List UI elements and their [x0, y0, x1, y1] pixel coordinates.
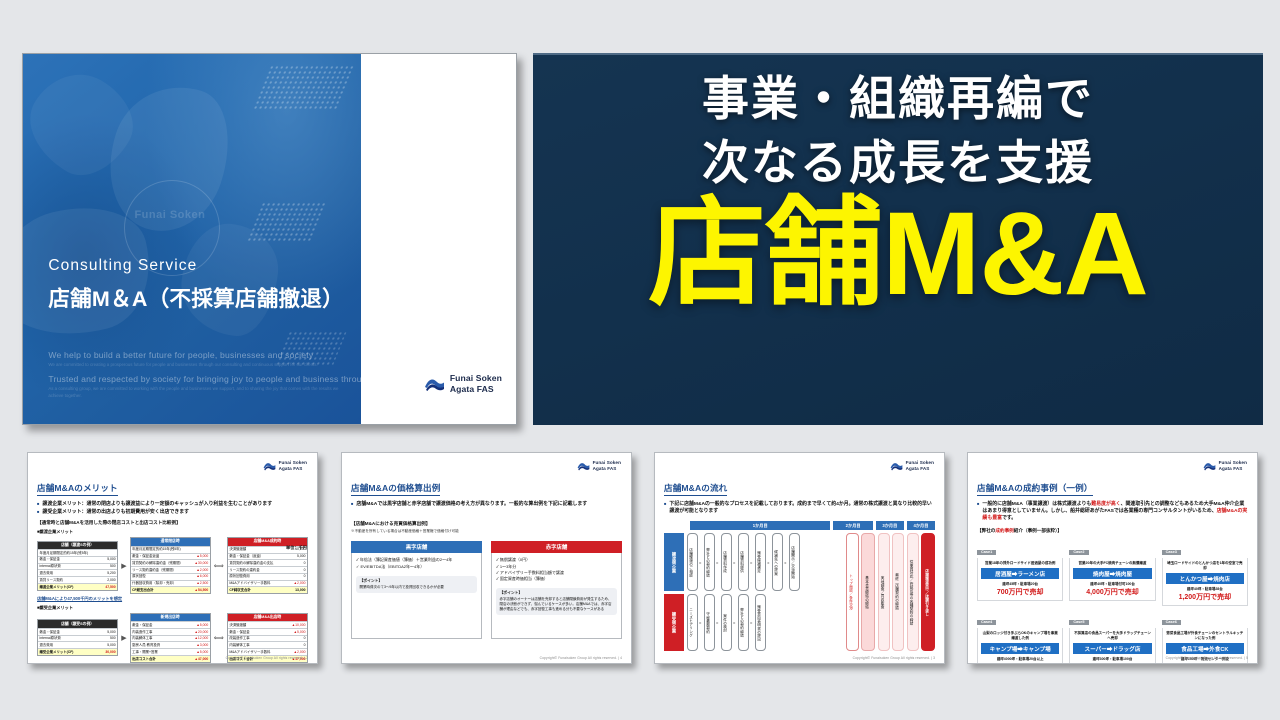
arrow-left-right-icon: ⟺	[214, 562, 224, 570]
case-spec: 建坪40坪・駐車場付可100台	[1073, 582, 1151, 587]
check-item: ✓ 固定資産時価相当（簿価）	[496, 576, 617, 582]
hero-headline-highlight: 店舗M&A	[648, 195, 1148, 313]
section-label-transferee: ■譲受企業メリット	[37, 605, 308, 611]
table-cell-value: ▲2,000	[280, 649, 307, 655]
case-body: 埼玉ロードサイドのとんかつ店を1年の空室で売却 とんかつ屋➡焼肉店 建坪40坪・…	[1162, 558, 1248, 606]
bullet-item: ■ 店舗M&Aでは黒字店舗と赤字店舗で譲渡価格の考え方が異なります。一般的な算出…	[351, 501, 622, 508]
case-tag: Case4	[977, 620, 996, 626]
subheading-part: 【弊社の	[977, 528, 995, 533]
case-price: 700万円で売却	[981, 587, 1059, 597]
table-cell-value: ▲5,000	[280, 629, 307, 635]
case-description: 埼玉ロードサイドのとんかつ店を1年の空室で売却	[1166, 561, 1244, 571]
flow-step-due-diligence: 実地調査／買収監査	[878, 533, 890, 651]
month-label: 3か月目	[876, 521, 904, 530]
table-cell-value: 5,000	[280, 554, 307, 560]
point-box-body: 赤字店舗のオーナーは店舗を売却すると店舗閉鎖費用が発生するため、閉店の決断ができ…	[500, 597, 614, 612]
table-note: 年度月足期間定的約15年(残5年)	[38, 550, 117, 556]
slide-bullet-list: ■ 一般的に店舗M&A（事業譲渡）は株式譲渡よりも難易度が高く、関連取引先との調…	[977, 501, 1248, 522]
table-cell-label: 退去費用	[38, 642, 90, 648]
brand-logo-line2: Agata FAS	[450, 384, 502, 395]
table-cell-value: 500	[90, 564, 117, 570]
arrow-right-icon: ▶	[121, 634, 126, 642]
case-body: 山梨のロッジ付き手ぶらOKのキャンプ場を事業譲渡した例 キャンプ場➡キャンプ場 …	[977, 628, 1063, 664]
slide-title: 店舗M&Aの流れ	[664, 482, 727, 496]
pricing-box-lossmaking: 赤字店舗 ✓ 無償譲渡（0円） ✓ 1～3年分 ✓ アドバイザリー手数料相当額で…	[491, 541, 622, 639]
bullet-square-icon: ■	[664, 501, 666, 515]
copyright-text: Copyright© Funaisoken Group All rights r…	[1166, 656, 1248, 660]
flow-lane-transferor: 店舗譲渡のご相談 ▸ 弊社との契約締結 ▸ 店舗資料作成 ▸ 店舗資料提供 ▸ …	[687, 533, 844, 591]
table-cell-value: ▲30,000	[183, 560, 210, 566]
title-slide-eyebrow: Consulting Service	[48, 257, 344, 275]
copyright-label: Copyright© Funaisoken Group All rights r…	[226, 656, 303, 660]
table-cell-value: 5,000	[90, 629, 117, 635]
title-slide-title: 店舗M＆A（不採算店舗撤退）	[48, 282, 344, 313]
table-cell-label: 賃貸契約の解除違約金の支払	[228, 560, 280, 566]
table-cell-label: リース契約違約金（残期間）	[131, 567, 183, 573]
table-cell-label: 厨房人員 教育投資	[131, 642, 183, 648]
flow-step: 店舗譲渡のご相談	[687, 533, 698, 591]
case-transition-bar: 焼肉屋➡焼肉屋	[1073, 568, 1151, 579]
flow-connector-icon: ▸	[717, 594, 719, 652]
table-total-value: 47,500	[90, 584, 117, 590]
table-cell-label: 敷金・保証金	[228, 629, 280, 635]
check-item-text: 無償譲渡（0円）	[500, 557, 530, 562]
box-header: 赤字店舗	[491, 541, 622, 553]
title-slide-thumbnail[interactable]: Funai Soken Consulting Service 店舗M＆A（不採算…	[22, 53, 517, 425]
funai-soken-wave-icon	[890, 461, 903, 471]
table-cell-label: M&Aアドバイザリー手数料	[228, 649, 280, 655]
funai-soken-wave-icon	[1203, 461, 1216, 471]
english-tagline-1-sub: We are committed to creating a prosperou…	[48, 362, 347, 369]
brand-logo: Funai Soken Agata FAS	[424, 373, 502, 394]
case-price: 7,000万円で売却	[981, 662, 1059, 664]
check-item-text: 1～3年分	[500, 564, 516, 569]
copyright-text: Copyright© Funaisoken Group All rights r…	[853, 656, 935, 660]
month-label: 4か月目	[907, 521, 935, 530]
check-item-text: EV/EBITDA法（EBITDA2年～4年）	[360, 564, 424, 569]
table-cell-label: 退去費用	[38, 570, 90, 576]
check-item-text: 年倍法（簿記資産価値（簿価）＋営業利益の2～4年	[360, 557, 452, 562]
flow-connector-icon: ▸	[717, 533, 719, 591]
title-slide-white-panel: Funai Soken Agata FAS	[361, 54, 516, 424]
table-header: 店舗M&A出店時	[228, 614, 307, 622]
bullet-item: ■ 譲受企業メリット：通常の出店よりも初期費用が安く出店できます	[37, 509, 308, 516]
table-cell-value: 5,000	[90, 557, 117, 563]
timeline-month-header: 1か月目 2か月目 3か月目 4か月目	[690, 521, 935, 530]
table-cell-value: 5,000	[90, 642, 117, 648]
table-cell-label: 敷金・保証金	[38, 629, 90, 635]
flow-step: 案件の検討	[721, 594, 732, 652]
box-body: ✓ 無償譲渡（0円） ✓ 1～3年分 ✓ アドバイザリー手数料相当額で譲渡 ✓ …	[491, 553, 622, 639]
table-note: 年度月足期間定的約15年(残5年)	[131, 547, 210, 553]
table-total-label: 譲受企業メリット(CF)	[38, 649, 90, 655]
table-cell-value: 0	[280, 567, 307, 573]
page-number: 3	[933, 656, 935, 660]
bullet-text: 譲受企業メリット：通常の出店よりも初期費用が安く出店できます	[42, 509, 189, 516]
case-spec: 建坪40坪・駐車場28台	[1166, 587, 1244, 592]
flow-step-handover: 店舗譲渡実行／店舗引き渡し	[921, 533, 935, 651]
case-card: Case5 不採算店の食品スーパーを大手ドラッグチェーンへ売却 スーパー➡ドラッ…	[1069, 610, 1155, 664]
funai-soken-wave-icon	[577, 461, 590, 471]
slide-subheading: 【店舗M&Aにおける売買価格算出例】	[351, 521, 622, 527]
flow-lanes: 店舗譲渡のご相談 ▸ 弊社との契約締結 ▸ 店舗資料作成 ▸ 店舗資料提供 ▸ …	[687, 533, 844, 651]
bullet-item: ■ 下記に店舗M&Aの一般的なプロセスを記載しております。成約まで早くて約4か月…	[664, 501, 935, 515]
case-transition-bar: 居酒屋➡ラーメン店	[981, 568, 1059, 579]
slide-subheading: 【弊社の成約事例紹介（事例一部抜粋）】	[977, 528, 1248, 534]
table-total-value: 13,000	[280, 587, 307, 593]
point-box-body: 開業時費次のて3～5年以内で投資回収できるかが必要	[360, 585, 474, 590]
case-tag: Case1	[977, 550, 996, 556]
point-box: 【ポイント】 赤字店舗のオーナーは店舗を売却すると店舗閉鎖費用が発生するため、閉…	[496, 588, 617, 615]
page-number: 4	[620, 656, 622, 660]
table-cell-value: 5,200	[90, 570, 117, 576]
brand-logo-text: Funai Soken Agata FAS	[450, 373, 502, 394]
flow-step-employee-licensing: 従業員対応／許認可等の各種契約の締結	[907, 533, 919, 651]
copyright-text: Copyright© Funaisoken Group All rights r…	[540, 656, 622, 660]
table-total-label: CF総支出合計	[131, 587, 183, 593]
table-cell-label: 決済譲渡額	[228, 547, 280, 553]
case-spec: 建坪300坪・駐車場100台	[1073, 657, 1151, 662]
case-card: Case3 埼玉ロードサイドのとんかつ店を1年の空室で売却 とんかつ屋➡焼肉店 …	[1162, 540, 1248, 606]
case-tag: Case3	[1162, 550, 1181, 556]
slide-title: 店舗M&Aのメリット	[37, 482, 118, 496]
case-card: Case2 営業20年の大手FC焼肉チェーンの無償譲渡 焼肉屋➡焼肉屋 建坪40…	[1069, 540, 1155, 606]
bullet-text-part: 一般的に店舗M&A（事業譲渡）は株式譲渡よりも	[982, 502, 1091, 507]
table-cell-label: 賃貸リース契約	[38, 577, 90, 583]
check-item-text: アドバイザリー手数料相当額で譲渡	[500, 570, 564, 575]
pricing-box-group: 黒字店舗 ✓ 年倍法（簿記資産価値（簿価）＋営業利益の2～4年 ✓ EV/EBI…	[351, 541, 622, 639]
flow-step: 店舗資料提供	[738, 533, 749, 591]
slide-thumbnail-pricing[interactable]: Funai Soken Agata FAS 店舗M&Aの価格算出例 ■ 店舗M&…	[341, 452, 632, 664]
brand-logo-text: Funai Soken Agata FAS	[279, 460, 307, 471]
slide-bullet-list: ■ 店舗M&Aでは黒字店舗と赤字店舗で譲渡価格の考え方が異なります。一般的な算出…	[351, 501, 622, 508]
comparison-row-transferor: 店舗（譲渡Sの例） 年度月足期間定的約15年(残5年) 敷金・保証金5,000 …	[37, 537, 308, 594]
slide-title: 店舗M&Aの成約事例（一例）	[977, 482, 1093, 496]
flow-connector-icon: ▸	[768, 533, 770, 591]
slide-bullet-list: ■ 譲渡企業メリット：通常の閉店よりも譲渡益により一定額のキャッシュが入り利益を…	[37, 501, 308, 516]
bullet-text: 譲渡企業メリット：通常の閉店よりも譲渡益により一定額のキャッシュが入り利益を生む…	[42, 501, 272, 508]
bullet-square-icon: ■	[977, 501, 979, 522]
table-cell-value: 0	[280, 642, 307, 648]
case-price: 5,000万円で売却	[1166, 662, 1244, 664]
case-description: 不採算店の食品スーパーを大手ドラッグチェーンへ売却	[1073, 631, 1151, 641]
table-cell-label: 敷金・保証金	[131, 622, 183, 628]
flow-step: 守秘義務契約	[704, 594, 715, 652]
subheading-highlight: 成約事例	[995, 528, 1013, 533]
slide-title: 店舗M&Aの価格算出例	[351, 482, 440, 496]
flow-lane-labels: 譲渡側企業 譲受側企業	[664, 533, 684, 651]
table-cell-label: internal原状費	[38, 564, 90, 570]
brand-logo: Funai Soken Agata FAS	[1203, 460, 1247, 471]
table-header: 店舗（譲渡Sの例）	[38, 542, 117, 550]
english-tagline-2-sub: As a consulting group, we are committed …	[48, 386, 347, 399]
brand-logo-line2: Agata FAS	[593, 466, 621, 472]
title-slide-blue-panel: Funai Soken Consulting Service 店舗M＆A（不採算…	[23, 54, 361, 424]
table-total-label: 出店コスト合計	[131, 656, 183, 662]
bullet-text-part: です。	[1002, 516, 1016, 521]
table-cell-label: 改装造作工事	[228, 636, 280, 642]
case-price: 3,000万円で売却	[1073, 662, 1151, 664]
flow-step: 候補先への提案	[772, 533, 783, 591]
case-tag: Case5	[1069, 620, 1088, 626]
table-cell-label: 敷金・保証金	[38, 557, 90, 563]
slide-thumbnail-process-flow[interactable]: Funai Soken Agata FAS 店舗M&Aの流れ ■ 下記に店舗M&…	[654, 452, 945, 664]
flow-step-basic-agreement: 基本合意締結の締結	[861, 533, 875, 651]
flow-step-final-contract: 最終（店舗契約の締結）	[892, 533, 904, 651]
table-cell-label: 決済譲渡額	[228, 622, 280, 628]
brand-logo-line1: Funai Soken	[450, 373, 502, 384]
lane-label-transferor: 譲渡側企業	[664, 533, 684, 591]
table-store-transferee: 店舗（譲受Sの例） 敷金・保証金5,000 internal原状費500 退去費…	[37, 619, 118, 656]
case-price: 1,200万円で売却	[1166, 592, 1244, 602]
hero-headline-line-1: 事業・組織再編で	[702, 77, 1094, 125]
brand-logo: Funai Soken Agata FAS	[577, 460, 621, 471]
table-cell-label: 原状回復	[131, 574, 183, 580]
table-store-transferor: 店舗（譲渡Sの例） 年度月足期間定的約15年(残5年) 敷金・保証金5,000 …	[37, 541, 118, 591]
flow-step: 店舗資料作成	[721, 533, 732, 591]
table-cell-value: ▲20,000	[183, 629, 210, 635]
box-body: ✓ 年倍法（簿記資産価値（簿価）＋営業利益の2～4年 ✓ EV/EBITDA法（…	[351, 553, 482, 639]
flow-connector-icon: ▸	[700, 533, 702, 591]
brand-logo-line1: Funai Soken	[1219, 460, 1247, 466]
case-transition-bar: キャンプ場➡キャンプ場	[981, 643, 1059, 654]
check-item-text: 固定資産時価相当（簿価）	[500, 576, 548, 581]
table-cell-value: ▲10,000	[280, 622, 307, 628]
copyright-label: Copyright© Funaisoken Group All rights r…	[1166, 656, 1243, 660]
table-total-value: ▲54,500	[183, 587, 210, 593]
table-cell-value: 0	[280, 560, 307, 566]
case-description: 山梨のロッジ付き手ぶらOKのキャンプ場を事業譲渡した例	[981, 631, 1059, 641]
table-header: 店舗（譲受Sの例）	[38, 620, 117, 628]
slide-thumbnail-merits[interactable]: Funai Soken Agata FAS 店舗M&Aのメリット ■ 譲渡企業メ…	[27, 452, 318, 664]
case-tag: Case2	[1069, 550, 1088, 556]
arrow-right-icon: ▶	[121, 562, 126, 570]
case-tag: Case6	[1162, 620, 1181, 626]
lane-label-transferee: 譲受側企業	[664, 594, 684, 652]
flow-connector-icon: ▸	[700, 594, 702, 652]
page-number: 5	[1246, 656, 1248, 660]
case-card: Case4 山梨のロッジ付き手ぶらOKのキャンプ場を事業譲渡した例 キャンプ場➡…	[977, 610, 1063, 664]
hero-headline-line-2: 次なる成長を支援	[702, 141, 1094, 189]
flow-step: 弊社との契約締結	[738, 594, 749, 652]
table-cell-value: ▲2,500	[183, 581, 210, 587]
flow-step: ニーズヒアリング	[687, 594, 698, 652]
table-cell-label: 内装造作工事	[131, 629, 183, 635]
case-description: 営業20年の大手FC焼肉チェーンの無償譲渡	[1073, 561, 1151, 566]
table-cell-value: 500	[90, 636, 117, 642]
slide-bullet-list: ■ 下記に店舗M&Aの一般的なプロセスを記載しております。成約まで早くて約4か月…	[664, 501, 935, 515]
table-cell-value: ▲5,000	[183, 554, 210, 560]
funai-soken-wave-icon	[263, 461, 276, 471]
title-slide-text-block: Consulting Service 店舗M＆A（不採算店舗撤退）	[48, 257, 344, 313]
bullet-text-highlight: 難易度が高く	[1091, 502, 1120, 507]
brand-logo-line2: Agata FAS	[279, 466, 307, 472]
screenshot-root: Funai Soken Consulting Service 店舗M＆A（不採算…	[0, 0, 1280, 720]
english-tagline-1: We help to build a better future for peo…	[48, 350, 347, 360]
case-spec: 建坪4000坪・駐車場20台以上	[981, 657, 1059, 662]
table-cell-value: ▲2,000	[183, 567, 210, 573]
brand-logo-line1: Funai Soken	[906, 460, 934, 466]
point-box-title: 【ポイント】	[500, 591, 614, 596]
pricing-box-profitable: 黒字店舗 ✓ 年倍法（簿記資産価値（簿価）＋営業利益の2～4年 ✓ EV/EBI…	[351, 541, 482, 639]
copyright-label: Copyright© Funaisoken Group All rights r…	[540, 656, 617, 660]
table-cell-label: 内装解体工事	[131, 636, 183, 642]
table-cell-value: 2,000	[90, 577, 117, 583]
case-card: Case1 営業18年の郊外ロードサイド居酒屋の成功例 居酒屋➡ラーメン店 建坪…	[977, 540, 1063, 606]
flow-step: 弊社との契約締結	[704, 533, 715, 591]
table-total-value: 30,000	[90, 649, 117, 655]
flow-step: 譲受意向表明書の提出	[755, 594, 766, 652]
bullet-text: 下記に店舗M&Aの一般的なプロセスを記載しております。成約まで早くて約4か月。通…	[669, 501, 935, 515]
table-cell-label: 什器回収費用（除却・売却）	[131, 581, 183, 587]
flow-connector-icon: ▸	[751, 594, 753, 652]
table-cell-label: M&Aアドバイザリー手数料	[228, 581, 280, 587]
brand-logo-text: Funai Soken Agata FAS	[906, 460, 934, 471]
table-cell-label: 工事・開業+営業	[131, 649, 183, 655]
bullet-square-icon: ■	[37, 501, 39, 508]
case-body: 不採算店の食品スーパーを大手ドラッグチェーンへ売却 スーパー➡ドラッグ店 建坪3…	[1069, 628, 1155, 664]
table-new-store: 新規出店時 敷金・保証金▲5,000 内装造作工事▲20,000 内装解体工事▲…	[130, 613, 211, 663]
table-cell-value: 0	[280, 574, 307, 580]
process-flow-diagram: 譲渡側企業 譲受側企業 店舗譲渡のご相談 ▸ 弊社との契約締結 ▸ 店舗資料作成…	[664, 533, 935, 651]
english-tagline-2: Trusted and respected by society for bri…	[48, 374, 347, 384]
flow-lane-transferee: ニーズヒアリング ▸ 守秘義務契約 ▸ 案件の検討 ▸ 弊社との契約締結 ▸ 譲…	[687, 594, 844, 652]
flow-connector-icon: ▸	[785, 533, 787, 591]
funai-soken-wave-icon	[424, 376, 445, 392]
section-label-transferor: ■譲渡企業メリット	[37, 529, 308, 535]
merit-note-transferor: 店舗M&Aにより47,500千円のメリットを想定	[37, 596, 308, 601]
watermark-logo-text: Funai Soken	[134, 209, 205, 221]
brand-logo: Funai Soken Agata FAS	[890, 460, 934, 471]
brand-logo-line1: Funai Soken	[593, 460, 621, 466]
point-box: 【ポイント】 開業時費次のて3～5年以内で投資回収できるかが必要	[356, 576, 477, 593]
brand-logo-line2: Agata FAS	[1219, 466, 1247, 472]
table-cell-label: 内装解体工事	[228, 642, 280, 648]
page-number: 2	[306, 656, 308, 660]
unit-label: 単位：千円	[286, 545, 307, 551]
month-label: 1か月目	[690, 521, 830, 530]
decorative-dot-pattern	[246, 202, 328, 242]
slide-thumbnail-case-studies[interactable]: Funai Soken Agata FAS 店舗M&Aの成約事例（一例） ■ 一…	[967, 452, 1258, 664]
bullet-square-icon: ■	[37, 509, 39, 516]
bullet-square-icon: ■	[351, 501, 353, 508]
bullet-text: 店舗M&Aでは黒字店舗と赤字店舗で譲渡価格の考え方が異なります。一般的な算出例を…	[356, 501, 587, 508]
box-header: 黒字店舗	[351, 541, 482, 553]
month-label: 2か月目	[833, 521, 872, 530]
table-cell-value: ▲5,000	[183, 622, 210, 628]
table-cell-label: リース契約の違約金	[228, 567, 280, 573]
case-description: 営業18年の郊外ロードサイド居酒屋の成功例	[981, 561, 1059, 566]
case-study-grid: Case1 営業18年の郊外ロードサイド居酒屋の成功例 居酒屋➡ラーメン店 建坪…	[977, 540, 1248, 664]
case-transition-bar: スーパー➡ドラッグ店	[1073, 643, 1151, 654]
point-box-title: 【ポイント】	[360, 579, 474, 584]
flow-connector-icon: ▸	[751, 533, 753, 591]
table-cell-value: ▲12,000	[183, 636, 210, 642]
table-normal-closing: 通常閉店時 年度月足期間定的約15年(残5年) 敷金・保証金返還▲5,000 賃…	[130, 537, 211, 594]
brand-logo-line2: Agata FAS	[906, 466, 934, 472]
brand-logo-line1: Funai Soken	[279, 460, 307, 466]
table-total-label: CF純収支合計	[228, 587, 280, 593]
case-price: 4,000万円で売却	[1073, 587, 1151, 597]
decorative-dot-pattern	[252, 65, 357, 111]
table-cell-label: 敷金・保証金返還	[131, 554, 183, 560]
arrow-left-right-icon: ⟺	[214, 634, 224, 642]
table-cell-value: ▲3,000	[183, 642, 210, 648]
table-cell-value: 0	[280, 636, 307, 642]
table-cell-label: internal原状費	[38, 636, 90, 642]
subheading-part: 紹介（事例一部抜粋）】	[1014, 528, 1062, 533]
brand-logo: Funai Soken Agata FAS	[263, 460, 307, 471]
title-slide-english-block: We help to build a better future for peo…	[48, 350, 347, 406]
table-total-value: ▲47,000	[183, 656, 210, 662]
check-item: ✓ EV/EBITDA法（EBITDA2年～4年）	[356, 564, 477, 570]
case-body: 営業20年の大手FC焼肉チェーンの無償譲渡 焼肉屋➡焼肉屋 建坪40坪・駐車場付…	[1069, 558, 1155, 601]
slide-footnote: ※不動産を所有している場合は不動産価格＋営業権で価格付け可能	[351, 529, 622, 534]
flow-step: 店舗開示／交渉開始	[789, 533, 800, 591]
hero-banner: 事業・組織再編で 次なる成長を支援 店舗M&A	[533, 53, 1263, 425]
flow-connector-icon: ▸	[734, 533, 736, 591]
bullet-text: 一般的に店舗M&A（事業譲渡）は株式譲渡よりも難易度が高く、関連取引先との調整な…	[982, 501, 1248, 522]
bullet-item: ■ 譲渡企業メリット：通常の閉店よりも譲渡益により一定額のキャッシュが入り利益を…	[37, 501, 308, 508]
table-cell-label: 敷金・保証金（返還）	[228, 554, 280, 560]
table-header: 新規出店時	[131, 614, 210, 622]
copyright-label: Copyright© Funaisoken Group All rights r…	[853, 656, 930, 660]
table-total-label: 譲渡企業メリット(CF)	[38, 584, 90, 590]
table-header: 通常閉店時	[131, 538, 210, 546]
case-transition-bar: とんかつ屋➡焼肉店	[1166, 573, 1244, 584]
table-cell-value: ▲5,000	[183, 649, 210, 655]
case-body: 営業18年の郊外ロードサイド居酒屋の成功例 居酒屋➡ラーメン店 建坪45坪・駐車…	[977, 558, 1063, 601]
flow-connector-icon: ▸	[734, 594, 736, 652]
flow-step-negotiation: トップ面談／条件交渉	[846, 533, 859, 651]
copyright-text: Copyright© Funaisoken Group All rights r…	[226, 656, 308, 660]
brand-logo-text: Funai Soken Agata FAS	[593, 460, 621, 471]
case-transition-bar: 食品工場➡外食CK	[1166, 643, 1244, 654]
brand-logo-text: Funai Soken Agata FAS	[1219, 460, 1247, 471]
case-description: 惣菜食品工場が外食チェーンのセントラルキッチンになった例	[1166, 631, 1244, 641]
table-cell-label: 賃貸契約の解除違約金（残期間）	[131, 560, 183, 566]
table-cell-value: ▲6,000	[183, 574, 210, 580]
table-cell-value: ▲2,000	[280, 581, 307, 587]
table-cell-label: 原状回復費用	[228, 574, 280, 580]
slide-subheading: 【通常時と店舗M&Aを活用した際の閉店コストと出店コスト比較例】	[37, 520, 308, 526]
bullet-item: ■ 一般的に店舗M&A（事業譲渡）は株式譲渡よりも難易度が高く、関連取引先との調…	[977, 501, 1248, 522]
case-spec: 建坪45坪・駐車場20台	[981, 582, 1059, 587]
flow-step: 譲受候補選定	[755, 533, 766, 591]
